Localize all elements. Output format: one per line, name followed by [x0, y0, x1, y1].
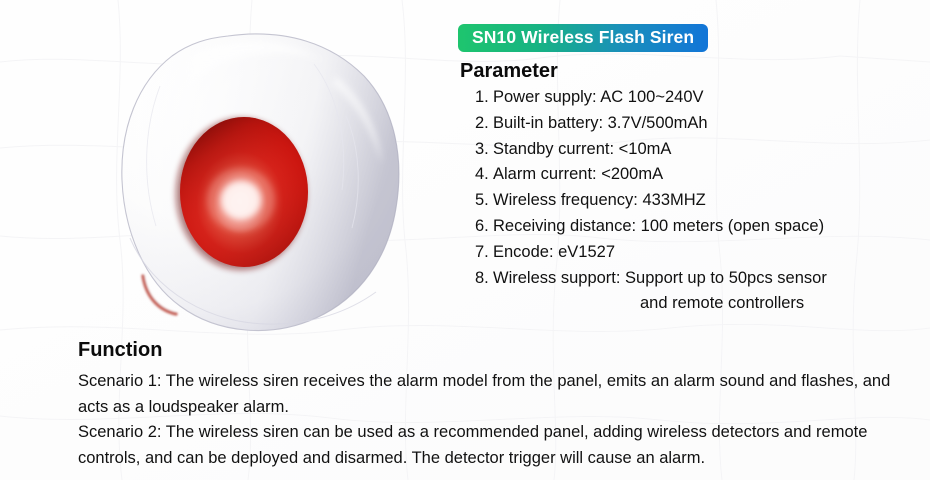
function-heading: Function: [78, 338, 900, 362]
parameter-item-number: 6.: [475, 214, 493, 240]
parameter-item-text: Built-in battery: 3.7V/500mAh: [493, 114, 708, 132]
parameter-item-text: Wireless frequency: 433MHZ: [493, 191, 706, 209]
parameter-item: 8.Wireless support: Support up to 50pcs …: [475, 266, 910, 292]
product-image: [100, 24, 440, 344]
parameter-item-text: Power supply: AC 100~240V: [493, 88, 704, 106]
parameter-item: 1.Power supply: AC 100~240V: [475, 85, 910, 111]
parameter-list: 1.Power supply: AC 100~240V 2.Built-in b…: [458, 85, 910, 291]
parameter-item: 7.Encode: eV1527: [475, 240, 910, 266]
product-spec-page: SN10 Wireless Flash Siren Parameter 1.Po…: [0, 0, 930, 480]
siren-illustration: [100, 24, 440, 344]
parameter-item-number: 8.: [475, 266, 493, 292]
parameter-continuation-line: and remote controllers: [458, 291, 910, 317]
specification-column: SN10 Wireless Flash Siren Parameter 1.Po…: [458, 24, 910, 317]
function-scenario-2: Scenario 2: The wireless siren can be us…: [78, 420, 900, 471]
parameter-item-number: 5.: [475, 188, 493, 214]
parameter-item-text: Standby current: <10mA: [493, 140, 671, 158]
parameter-item-text: Alarm current: <200mA: [493, 165, 663, 183]
parameter-item-number: 7.: [475, 240, 493, 266]
parameter-item: 4.Alarm current: <200mA: [475, 162, 910, 188]
parameter-item-text: Receiving distance: 100 meters (open spa…: [493, 217, 824, 235]
parameter-item-number: 1.: [475, 85, 493, 111]
function-scenario-1: Scenario 1: The wireless siren receives …: [78, 369, 900, 420]
parameter-item-number: 4.: [475, 162, 493, 188]
parameter-item: 6.Receiving distance: 100 meters (open s…: [475, 214, 910, 240]
parameter-item: 5.Wireless frequency: 433MHZ: [475, 188, 910, 214]
function-section: Function Scenario 1: The wireless siren …: [78, 338, 900, 471]
parameter-item-number: 2.: [475, 111, 493, 137]
parameter-item: 3.Standby current: <10mA: [475, 137, 910, 163]
parameter-heading: Parameter: [460, 59, 910, 83]
parameter-item: 2.Built-in battery: 3.7V/500mAh: [475, 111, 910, 137]
parameter-item-number: 3.: [475, 137, 493, 163]
parameter-item-text: Encode: eV1527: [493, 243, 615, 261]
product-title-badge: SN10 Wireless Flash Siren: [458, 24, 708, 52]
parameter-item-text: Wireless support: Support up to 50pcs se…: [493, 269, 827, 287]
